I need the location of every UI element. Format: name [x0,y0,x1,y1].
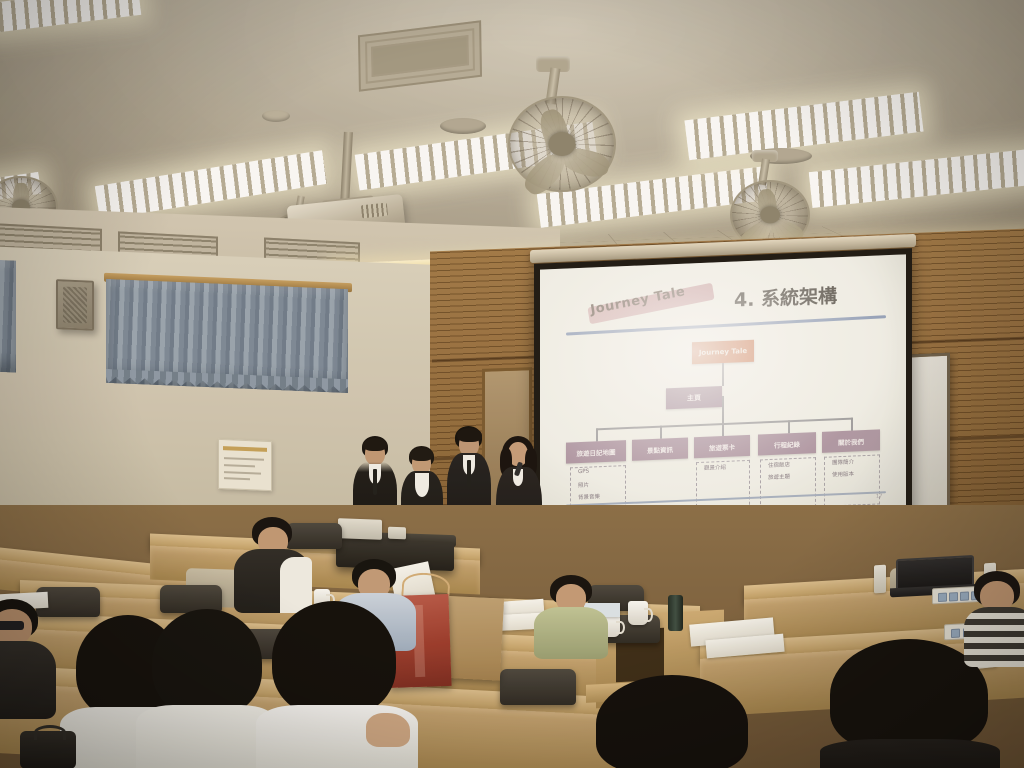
floor-and-seating [0,505,1024,768]
audience-member-near-2 [140,609,274,768]
sub-item: 旅遊主題 [768,472,790,481]
audience-member-far-right [966,571,1024,667]
audience-member-front-left [232,517,312,613]
diagram-leaf-node: 景點資訊 [632,437,688,460]
window-curtain [106,279,348,393]
window-curtain [0,259,16,372]
connector [722,423,724,436]
connector-bus [596,418,852,430]
coffee-mug [628,601,648,625]
slide-page-number: 17 [876,493,882,499]
connector [660,426,662,439]
audience-member-mid-right [534,575,610,659]
ceiling-fan [496,56,626,186]
lecture-hall-presentation-photo: Journey Tale 4. 系統架構 Journey Tale 主頁 [0,0,1024,768]
connector [851,418,853,431]
slide-title: 4. 系統架構 [734,281,837,312]
desktop-speaker [874,565,886,594]
sub-item: 照片 [578,481,589,489]
diagram-middle-node: 主頁 [666,386,722,409]
diagram-root-node: Journey Tale [692,340,754,365]
arm [366,713,410,747]
diagram-leaf-node: 旅遊票卡 [694,435,750,458]
sub-item: 住宿飯店 [768,460,790,469]
slide-content: Journey Tale 4. 系統架構 Journey Tale 主頁 [540,254,906,521]
ceiling-speaker-icon [440,118,486,134]
screen-surface: Journey Tale 4. 系統架構 Journey Tale 主頁 [540,254,906,521]
sub-item: 使用版本 [832,470,854,479]
sub-item: 團隊簡介 [832,458,854,467]
connector [788,420,790,433]
sunglasses [0,621,24,630]
diagram-leaf-node: 關於我們 [822,429,880,452]
bag-handle [34,725,66,740]
projection-screen: Journey Tale 4. 系統架構 Journey Tale 主頁 [516,244,926,536]
sub-item: 觀景介紹 [704,463,726,472]
diagram-leaf-node: 旅遊日記地圖 [566,440,626,464]
wall-speaker [56,279,94,331]
audience-member-far-left [0,599,60,719]
audience-member-near-right-1 [596,675,748,768]
chair[interactable] [500,669,576,705]
smoke-detector-icon [262,110,290,122]
sub-item: GPS [578,469,589,475]
connector [722,363,724,386]
ceiling-fan [722,150,818,246]
wall-notice [218,439,272,491]
thermos-flask [668,595,683,631]
podium-equipment [388,527,406,540]
podium-equipment [338,518,382,540]
sub-item: 背景音樂 [578,492,600,501]
diagram-leaf-node: 行程紀錄 [758,432,816,455]
connector [596,428,598,441]
audience-member-near-3 [262,601,412,768]
connector [722,396,724,424]
